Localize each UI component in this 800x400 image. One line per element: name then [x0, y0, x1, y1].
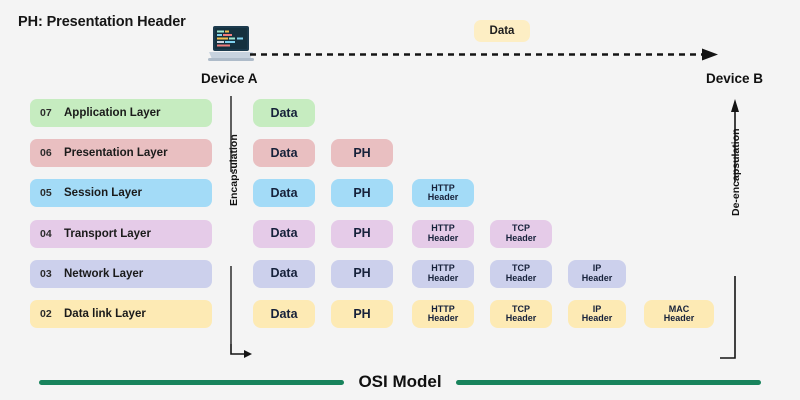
pdu-label-line2: Header: [428, 314, 459, 323]
layer-number: 07: [40, 107, 64, 119]
page-title: OSI Model: [358, 372, 441, 392]
pdu-box[interactable]: MACHeader: [644, 300, 714, 328]
pdu-box[interactable]: Data: [253, 99, 315, 127]
pdu-box[interactable]: PH: [331, 260, 393, 288]
pdu-label-line2: Header: [506, 274, 537, 283]
layer-row: 05Session LayerDataPHHTTPHeader: [0, 179, 800, 207]
pdu-label-line2: Header: [428, 193, 459, 202]
layer-number: 02: [40, 308, 64, 320]
layer-bar-05[interactable]: 05Session Layer: [30, 179, 212, 207]
legend-presentation-header: PH: Presentation Header: [18, 14, 186, 30]
layer-number: 05: [40, 187, 64, 199]
dashed-arrow-right-icon: [250, 48, 720, 62]
layer-name: Application Layer: [64, 107, 161, 119]
layer-name: Transport Layer: [64, 228, 151, 240]
layer-bar-06[interactable]: 06Presentation Layer: [30, 139, 212, 167]
pdu-label-line2: Header: [506, 314, 537, 323]
layer-row: 03Network LayerDataPHHTTPHeaderTCPHeader…: [0, 260, 800, 288]
layer-bar-02[interactable]: 02Data link Layer: [30, 300, 212, 328]
layer-number: 04: [40, 228, 64, 240]
layer-row: 02Data link LayerDataPHHTTPHeaderTCPHead…: [0, 300, 800, 328]
layer-name: Session Layer: [64, 187, 142, 199]
pdu-box[interactable]: TCPHeader: [490, 260, 552, 288]
layer-name: Presentation Layer: [64, 147, 168, 159]
pdu-label-line2: Header: [582, 274, 613, 283]
layer-bar-03[interactable]: 03Network Layer: [30, 260, 212, 288]
pdu-box[interactable]: HTTPHeader: [412, 300, 474, 328]
pdu-box[interactable]: PH: [331, 220, 393, 248]
pdu-label-line2: Header: [582, 314, 613, 323]
footer-rule-left: [39, 380, 344, 385]
pdu-label-line2: Header: [664, 314, 695, 323]
device-a-label: Device A: [201, 71, 258, 86]
pdu-label-line2: Header: [428, 274, 459, 283]
pdu-box[interactable]: HTTPHeader: [412, 260, 474, 288]
layer-name: Data link Layer: [64, 308, 146, 320]
footer: OSI Model: [0, 372, 800, 392]
pdu-box[interactable]: PH: [331, 300, 393, 328]
layer-name: Network Layer: [64, 268, 143, 280]
pdu-box[interactable]: PH: [331, 179, 393, 207]
layer-bar-04[interactable]: 04Transport Layer: [30, 220, 212, 248]
pdu-box[interactable]: TCPHeader: [490, 300, 552, 328]
layer-bar-07[interactable]: 07Application Layer: [30, 99, 212, 127]
laptop-icon: [208, 24, 254, 62]
transmission-data-badge: Data: [474, 20, 530, 42]
pdu-box[interactable]: Data: [253, 179, 315, 207]
pdu-box[interactable]: Data: [253, 260, 315, 288]
layer-row: 06Presentation LayerDataPH: [0, 139, 800, 167]
pdu-label-line2: Header: [506, 234, 537, 243]
layer-row: 04Transport LayerDataPHHTTPHeaderTCPHead…: [0, 220, 800, 248]
pdu-label-line2: Header: [428, 234, 459, 243]
layer-number: 06: [40, 147, 64, 159]
footer-rule-right: [456, 380, 761, 385]
pdu-box[interactable]: PH: [331, 139, 393, 167]
layer-row: 07Application LayerData: [0, 99, 800, 127]
pdu-box[interactable]: Data: [253, 300, 315, 328]
pdu-box[interactable]: IPHeader: [568, 260, 626, 288]
osi-model-diagram: PH: Presentation Header Device A Device …: [0, 0, 800, 400]
layer-number: 03: [40, 268, 64, 280]
pdu-box[interactable]: HTTPHeader: [412, 220, 474, 248]
device-b-label: Device B: [706, 71, 763, 86]
pdu-box[interactable]: TCPHeader: [490, 220, 552, 248]
pdu-box[interactable]: IPHeader: [568, 300, 626, 328]
pdu-box[interactable]: HTTPHeader: [412, 179, 474, 207]
pdu-box[interactable]: Data: [253, 220, 315, 248]
pdu-box[interactable]: Data: [253, 139, 315, 167]
